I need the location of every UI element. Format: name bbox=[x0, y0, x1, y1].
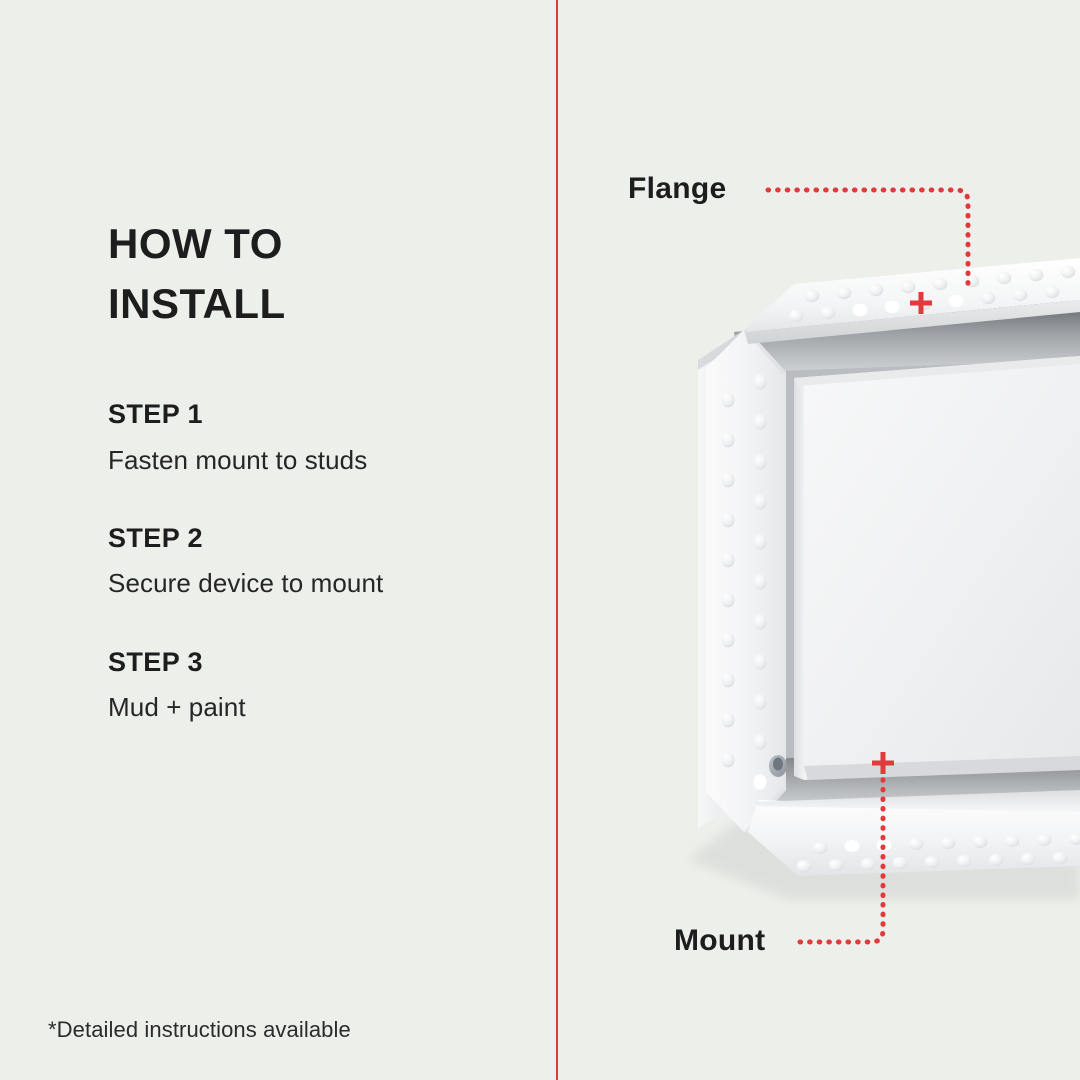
list-item: STEP 1 Fasten mount to studs bbox=[108, 400, 538, 478]
step-1-title: STEP 1 bbox=[108, 400, 538, 430]
step-3-title: STEP 3 bbox=[108, 648, 538, 678]
list-item: STEP 3 Mud + paint bbox=[108, 648, 538, 726]
device-face-left-edge bbox=[794, 378, 804, 780]
page-title: HOW TO INSTALL bbox=[108, 214, 528, 333]
step-2-title: STEP 2 bbox=[108, 524, 538, 554]
install-infographic: HOW TO INSTALL STEP 1 Fasten mount to st… bbox=[0, 0, 1080, 1080]
list-item: STEP 2 Secure device to mount bbox=[108, 524, 538, 602]
product-illustration bbox=[558, 0, 1080, 1080]
product-diagram-panel: Flange Mount bbox=[558, 0, 1080, 1080]
page-title-line-1: HOW TO bbox=[108, 214, 528, 274]
device-face-panel bbox=[794, 356, 1080, 780]
step-1-description: Fasten mount to studs bbox=[108, 443, 438, 478]
callout-label-flange: Flange bbox=[628, 174, 726, 204]
step-2-description: Secure device to mount bbox=[108, 566, 438, 601]
steps-list: STEP 1 Fasten mount to studs STEP 2 Secu… bbox=[108, 400, 538, 725]
step-3-description: Mud + paint bbox=[108, 690, 438, 725]
callout-label-mount: Mount bbox=[674, 926, 765, 956]
page-title-line-2: INSTALL bbox=[108, 274, 528, 334]
mounting-screw-detail bbox=[769, 755, 787, 777]
instructions-panel: HOW TO INSTALL STEP 1 Fasten mount to st… bbox=[0, 0, 556, 1080]
footnote: *Detailed instructions available bbox=[48, 1017, 351, 1043]
